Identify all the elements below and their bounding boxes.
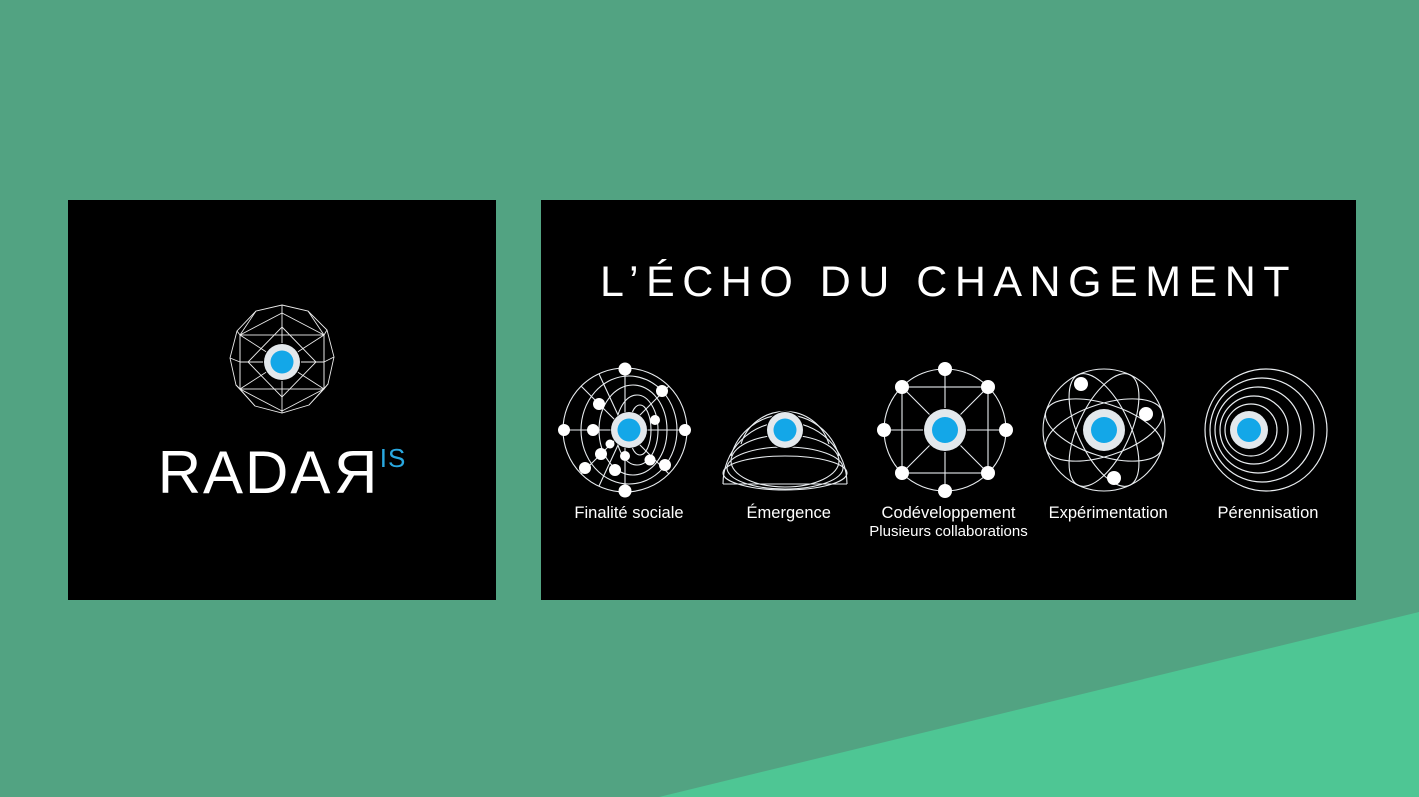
stage-item-emergence[interactable]: Émergence bbox=[711, 360, 867, 523]
content-panel: L’ÉCHO DU CHANGEMENT bbox=[541, 200, 1356, 600]
stage-item-finalite-sociale[interactable]: Finalité sociale bbox=[551, 360, 707, 523]
brand-wordmark: RADAR bbox=[158, 443, 378, 503]
stage-item-experimentation[interactable]: Expérimentation bbox=[1030, 360, 1186, 523]
stage-label: Émergence bbox=[747, 503, 831, 523]
hub-and-spoke-nodes-icon bbox=[875, 360, 1023, 500]
brand-wordmark-mirrored-r: R bbox=[332, 443, 377, 503]
brand-wordmark-row: RADAR IS bbox=[158, 443, 407, 503]
page-title: L’ÉCHO DU CHANGEMENT bbox=[541, 258, 1356, 307]
brand-lockup: RADAR IS bbox=[68, 200, 496, 600]
orbital-atom-icon bbox=[1034, 360, 1182, 500]
stage-item-codeveloppement[interactable]: Codéveloppement Plusieurs collaborations bbox=[871, 360, 1027, 542]
stage-label: Pérennisation bbox=[1218, 503, 1319, 523]
concentric-ripple-rings-icon bbox=[1194, 360, 1342, 500]
radial-web-network-icon bbox=[555, 360, 703, 500]
radar-sphere-icon bbox=[212, 297, 352, 437]
stage-label: Expérimentation bbox=[1049, 503, 1168, 523]
stage-row: Finalité sociale bbox=[551, 360, 1346, 542]
brand-wordmark-suffix: IS bbox=[380, 445, 407, 471]
stage-sublabel: Plusieurs collaborations bbox=[869, 523, 1027, 542]
stage-label: Finalité sociale bbox=[574, 503, 683, 523]
logo-panel: RADAR IS bbox=[68, 200, 496, 600]
brand-wordmark-main: RADA bbox=[158, 439, 333, 506]
stage-label: Codéveloppement bbox=[882, 503, 1016, 523]
background-diagonal-accent bbox=[659, 612, 1419, 797]
nested-dome-arcs-icon bbox=[715, 360, 863, 500]
stage-item-perennisation[interactable]: Pérennisation bbox=[1190, 360, 1346, 523]
